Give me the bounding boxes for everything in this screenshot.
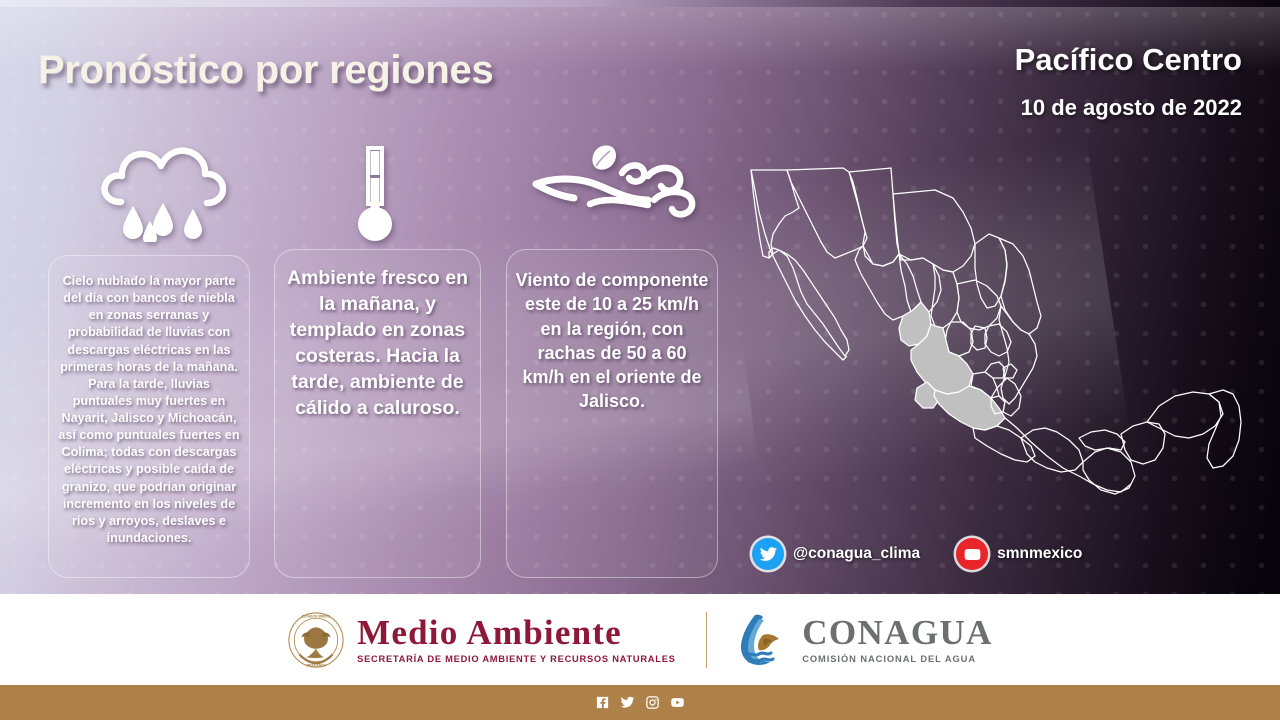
youtube-handle-item[interactable]: smnmexico [956,538,1082,570]
twitter-handle-item[interactable]: @conagua_clima [752,538,920,570]
twitter-handle-label: @conagua_clima [793,545,920,563]
forecast-date: 10 de agosto de 2022 [1021,95,1242,121]
forecast-card-wind: Viento de componente este de 10 a 25 km/… [506,249,718,578]
footer-social-bar [0,685,1280,720]
twitter-icon[interactable] [752,538,784,570]
youtube-icon[interactable] [670,695,685,710]
twitter-icon[interactable] [620,695,635,710]
region-title: Pacífico Centro [1015,42,1242,78]
youtube-handle-label: smnmexico [997,545,1082,563]
forecast-card-text: Viento de componente este de 10 a 25 km/… [507,250,717,414]
infographic-stage: Pronóstico por regiones Pacífico Centro … [0,0,1280,720]
conagua-water-drop-icon [737,611,789,669]
mexico-map [735,150,1265,520]
instagram-icon[interactable] [645,695,660,710]
forecast-card-temperature: Ambiente fresco en la mañana, y templado… [274,249,481,578]
medio-ambiente-subtitle: SECRETARÍA DE MEDIO AMBIENTE Y RECURSOS … [357,654,675,664]
logo-divider [706,612,708,668]
medio-ambiente-text: Medio Ambiente SECRETARÍA DE MEDIO AMBIE… [357,615,675,665]
medio-ambiente-title: Medio Ambiente [357,615,675,651]
conagua-subtitle: COMISIÓN NACIONAL DEL AGUA [802,654,993,664]
footer-logos: ESTADOS UNIDOS MEXICANOS Medio Ambiente … [0,594,1280,685]
conagua-logo: CONAGUA COMISIÓN NACIONAL DEL AGUA [737,611,993,669]
facebook-icon[interactable] [595,695,610,710]
conagua-title: CONAGUA [802,615,993,651]
svg-text:ESTADOS UNIDOS: ESTADOS UNIDOS [302,614,330,618]
social-handles: @conagua_clima smnmexico [752,538,1082,570]
mexico-coat-of-arms-icon: ESTADOS UNIDOS MEXICANOS [287,610,345,670]
youtube-icon[interactable] [956,538,988,570]
forecast-card-text: Ambiente fresco en la mañana, y templado… [275,250,480,422]
forecast-cards: Cielo nublado la mayor parte del día con… [0,0,740,600]
forecast-card-precipitation: Cielo nublado la mayor parte del día con… [48,255,250,578]
medio-ambiente-logo: ESTADOS UNIDOS MEXICANOS Medio Ambiente … [287,610,675,670]
forecast-card-text: Cielo nublado la mayor parte del día con… [49,256,249,547]
conagua-text: CONAGUA COMISIÓN NACIONAL DEL AGUA [802,615,993,665]
